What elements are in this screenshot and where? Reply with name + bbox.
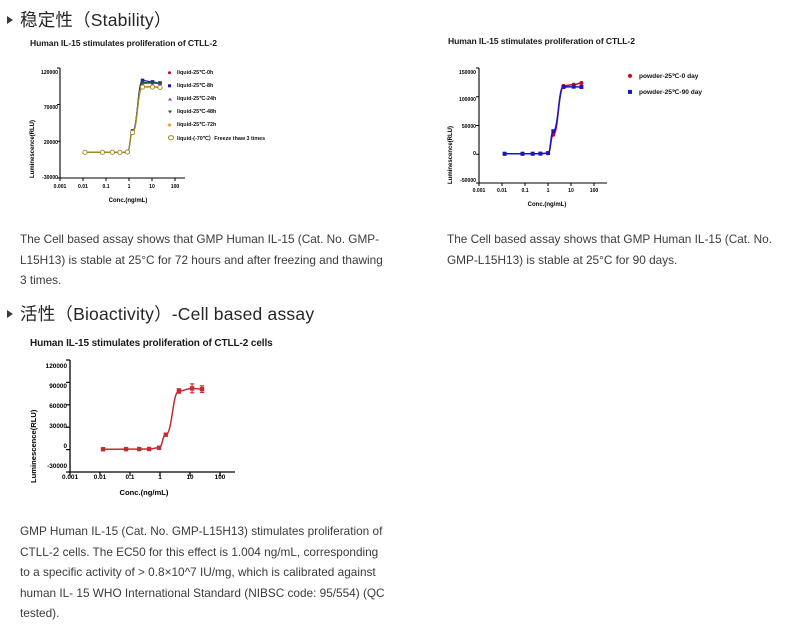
chart2-ytick-1: 0 — [448, 151, 476, 157]
chart2-plot-area — [479, 68, 607, 188]
chart2-legend-item-0: powder-25℃-0 day — [628, 68, 702, 84]
chart1-legend-label-0: liquid-25℃-0h — [177, 70, 213, 76]
chart2-xtick-1: 0.01 — [492, 188, 512, 194]
chart3-ytick-2: 30000 — [32, 423, 67, 430]
chart1-legend-item-3: liquid-25℃-48h — [168, 105, 265, 118]
chart3-ytick-3: 60000 — [32, 403, 67, 410]
chart-liquid-stability: Human IL-15 stimulates proliferation of … — [28, 38, 328, 213]
chart3-title: Human IL-15 stimulates proliferation of … — [30, 338, 273, 349]
legend-marker-square-icon — [168, 84, 171, 87]
chart3-ytick-0: -30000 — [32, 463, 67, 470]
chart2-ytick-4: 150000 — [448, 70, 476, 76]
legend-marker-diamond-icon — [167, 122, 171, 126]
heading-stability-label: 稳定性（Stability） — [20, 7, 172, 32]
paragraph-stability: The Cell based assay shows that GMP Huma… — [20, 229, 385, 291]
chart2-xtick-5: 100 — [584, 188, 604, 194]
legend-marker-circle-icon — [168, 71, 171, 74]
legend-marker-triangle-up-icon — [168, 97, 172, 100]
chart1-legend-item-0: liquid-25℃-0h — [168, 66, 265, 79]
chart1-xtick-4: 10 — [142, 184, 162, 190]
chart2-xtick-2: 0.1 — [515, 188, 535, 194]
chart3-ytick-4: 90000 — [32, 383, 67, 390]
chart1-xtick-5: 100 — [165, 184, 185, 190]
chart1-legend-label-5: liquid-(-70℃）Freeze thaw 3 times — [177, 134, 265, 142]
paragraph-bioactivity: GMP Human IL-15 (Cat. No. GMP-L15H13) st… — [20, 521, 390, 624]
chart1-title: Human IL-15 stimulates proliferation of … — [30, 38, 217, 48]
triangle-bullet-icon — [7, 310, 13, 318]
chart1-ytick-0: -30000 — [34, 175, 58, 181]
chart2-title: Human IL-15 stimulates proliferation of … — [448, 36, 635, 46]
chart1-legend-item-2: liquid-25℃-24h — [168, 92, 265, 105]
chart3-ytick-1: 0 — [32, 443, 67, 450]
chart1-legend-item-1: liquid-25℃-8h — [168, 79, 265, 92]
chart2-ytick-2: 50000 — [448, 124, 476, 130]
chart1-legend: liquid-25℃-0h liquid-25℃-8h liquid-25℃-2… — [168, 66, 265, 144]
chart1-xtick-3: 1 — [119, 184, 139, 190]
legend-marker-square-icon — [628, 90, 632, 94]
chart2-ytick-0: -50000 — [448, 178, 476, 184]
chart-bioactivity: Human IL-15 stimulates proliferation of … — [26, 338, 296, 508]
chart1-x-axis-title: Conc.(ng/mL) — [58, 198, 198, 204]
chart2-legend-label-0: powder-25℃-0 day — [639, 72, 698, 80]
chart1-legend-label-4: liquid-25℃-72h — [177, 122, 216, 128]
chart2-ytick-3: 100000 — [448, 97, 476, 103]
heading-bioactivity: 活性（Bioactivity）-Cell based assay — [7, 301, 314, 326]
legend-marker-triangle-down-icon — [168, 110, 172, 113]
chart2-legend-label-1: powder-25℃-90 day — [639, 88, 702, 96]
slide-page: 稳定性（Stability） Human IL-15 stimulates pr… — [0, 0, 800, 618]
heading-stability: 稳定性（Stability） — [7, 7, 172, 32]
heading-bioactivity-label: 活性（Bioactivity）-Cell based assay — [20, 301, 314, 326]
chart2-xtick-3: 1 — [538, 188, 558, 194]
chart3-plot-area — [70, 360, 235, 478]
chart1-legend-label-1: liquid-25℃-8h — [177, 83, 213, 89]
chart2-xtick-0: 0.001 — [469, 188, 489, 194]
chart1-xtick-0: 0.001 — [50, 184, 70, 190]
chart2-legend: powder-25℃-0 day powder-25℃-90 day — [628, 68, 702, 100]
chart1-plot-area — [60, 68, 185, 183]
chart1-ytick-2: 70000 — [34, 105, 58, 111]
chart-powder-stability: Human IL-15 stimulates proliferation of … — [443, 36, 773, 216]
chart1-y-axis-title: Luminescence(RLU) — [30, 120, 36, 178]
chart1-ytick-1: 20000 — [34, 140, 58, 146]
chart1-xtick-1: 0.01 — [73, 184, 93, 190]
chart1-legend-item-4: liquid-25℃-72h — [168, 118, 265, 131]
chart2-x-axis-title: Conc.(ng/mL) — [477, 202, 617, 208]
chart3-ytick-5: 120000 — [32, 363, 67, 370]
chart1-legend-label-2: liquid-25℃-24h — [177, 96, 216, 102]
chart1-legend-item-5: liquid-(-70℃）Freeze thaw 3 times — [168, 131, 265, 144]
chart3-x-axis-title: Conc.(ng/mL) — [74, 488, 214, 497]
chart1-xtick-2: 0.1 — [96, 184, 116, 190]
chart2-xtick-4: 10 — [561, 188, 581, 194]
triangle-bullet-icon — [7, 16, 13, 24]
paragraph-powder-stability: The Cell based assay shows that GMP Huma… — [447, 229, 792, 270]
chart1-ytick-3: 120000 — [34, 70, 58, 76]
legend-marker-open-circle-icon — [168, 135, 174, 141]
chart1-legend-label-3: liquid-25℃-48h — [177, 109, 216, 115]
legend-marker-circle-icon — [628, 74, 632, 78]
chart2-legend-item-1: powder-25℃-90 day — [628, 84, 702, 100]
